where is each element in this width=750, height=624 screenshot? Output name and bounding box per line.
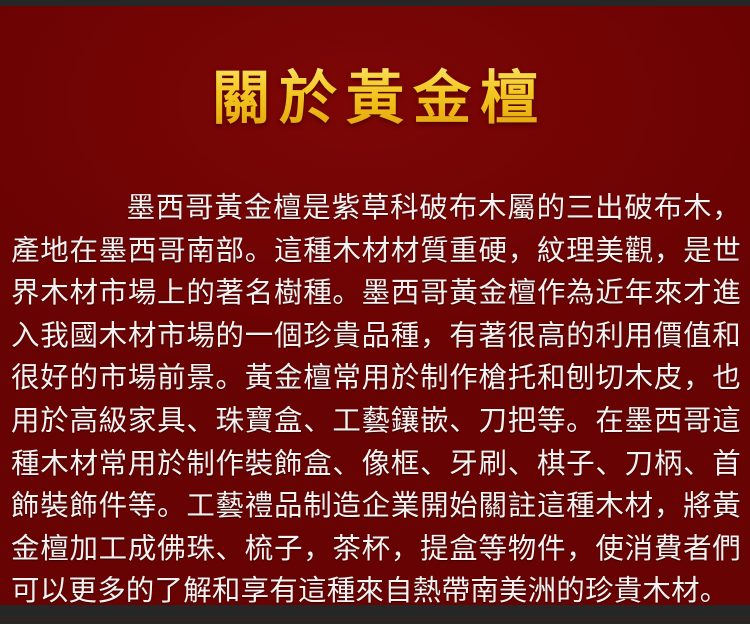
article-body: 墨西哥黃金檀是紫草科破布木屬的三出破布木，產地在墨西哥南部。這種木材材質重硬，紋… <box>11 187 741 613</box>
bottom-dark-band <box>0 605 750 624</box>
bottom-edge-line <box>0 619 750 621</box>
title-container: 關於黃金檀 <box>0 62 750 134</box>
content-panel: 關於黃金檀 墨西哥黃金檀是紫草科破布木屬的三出破布木，產地在墨西哥南部。這種木材… <box>0 6 750 605</box>
product-info-banner: 關於黃金檀 墨西哥黃金檀是紫草科破布木屬的三出破布木，產地在墨西哥南部。這種木材… <box>0 0 750 624</box>
page-title: 關於黃金檀 <box>203 62 547 134</box>
